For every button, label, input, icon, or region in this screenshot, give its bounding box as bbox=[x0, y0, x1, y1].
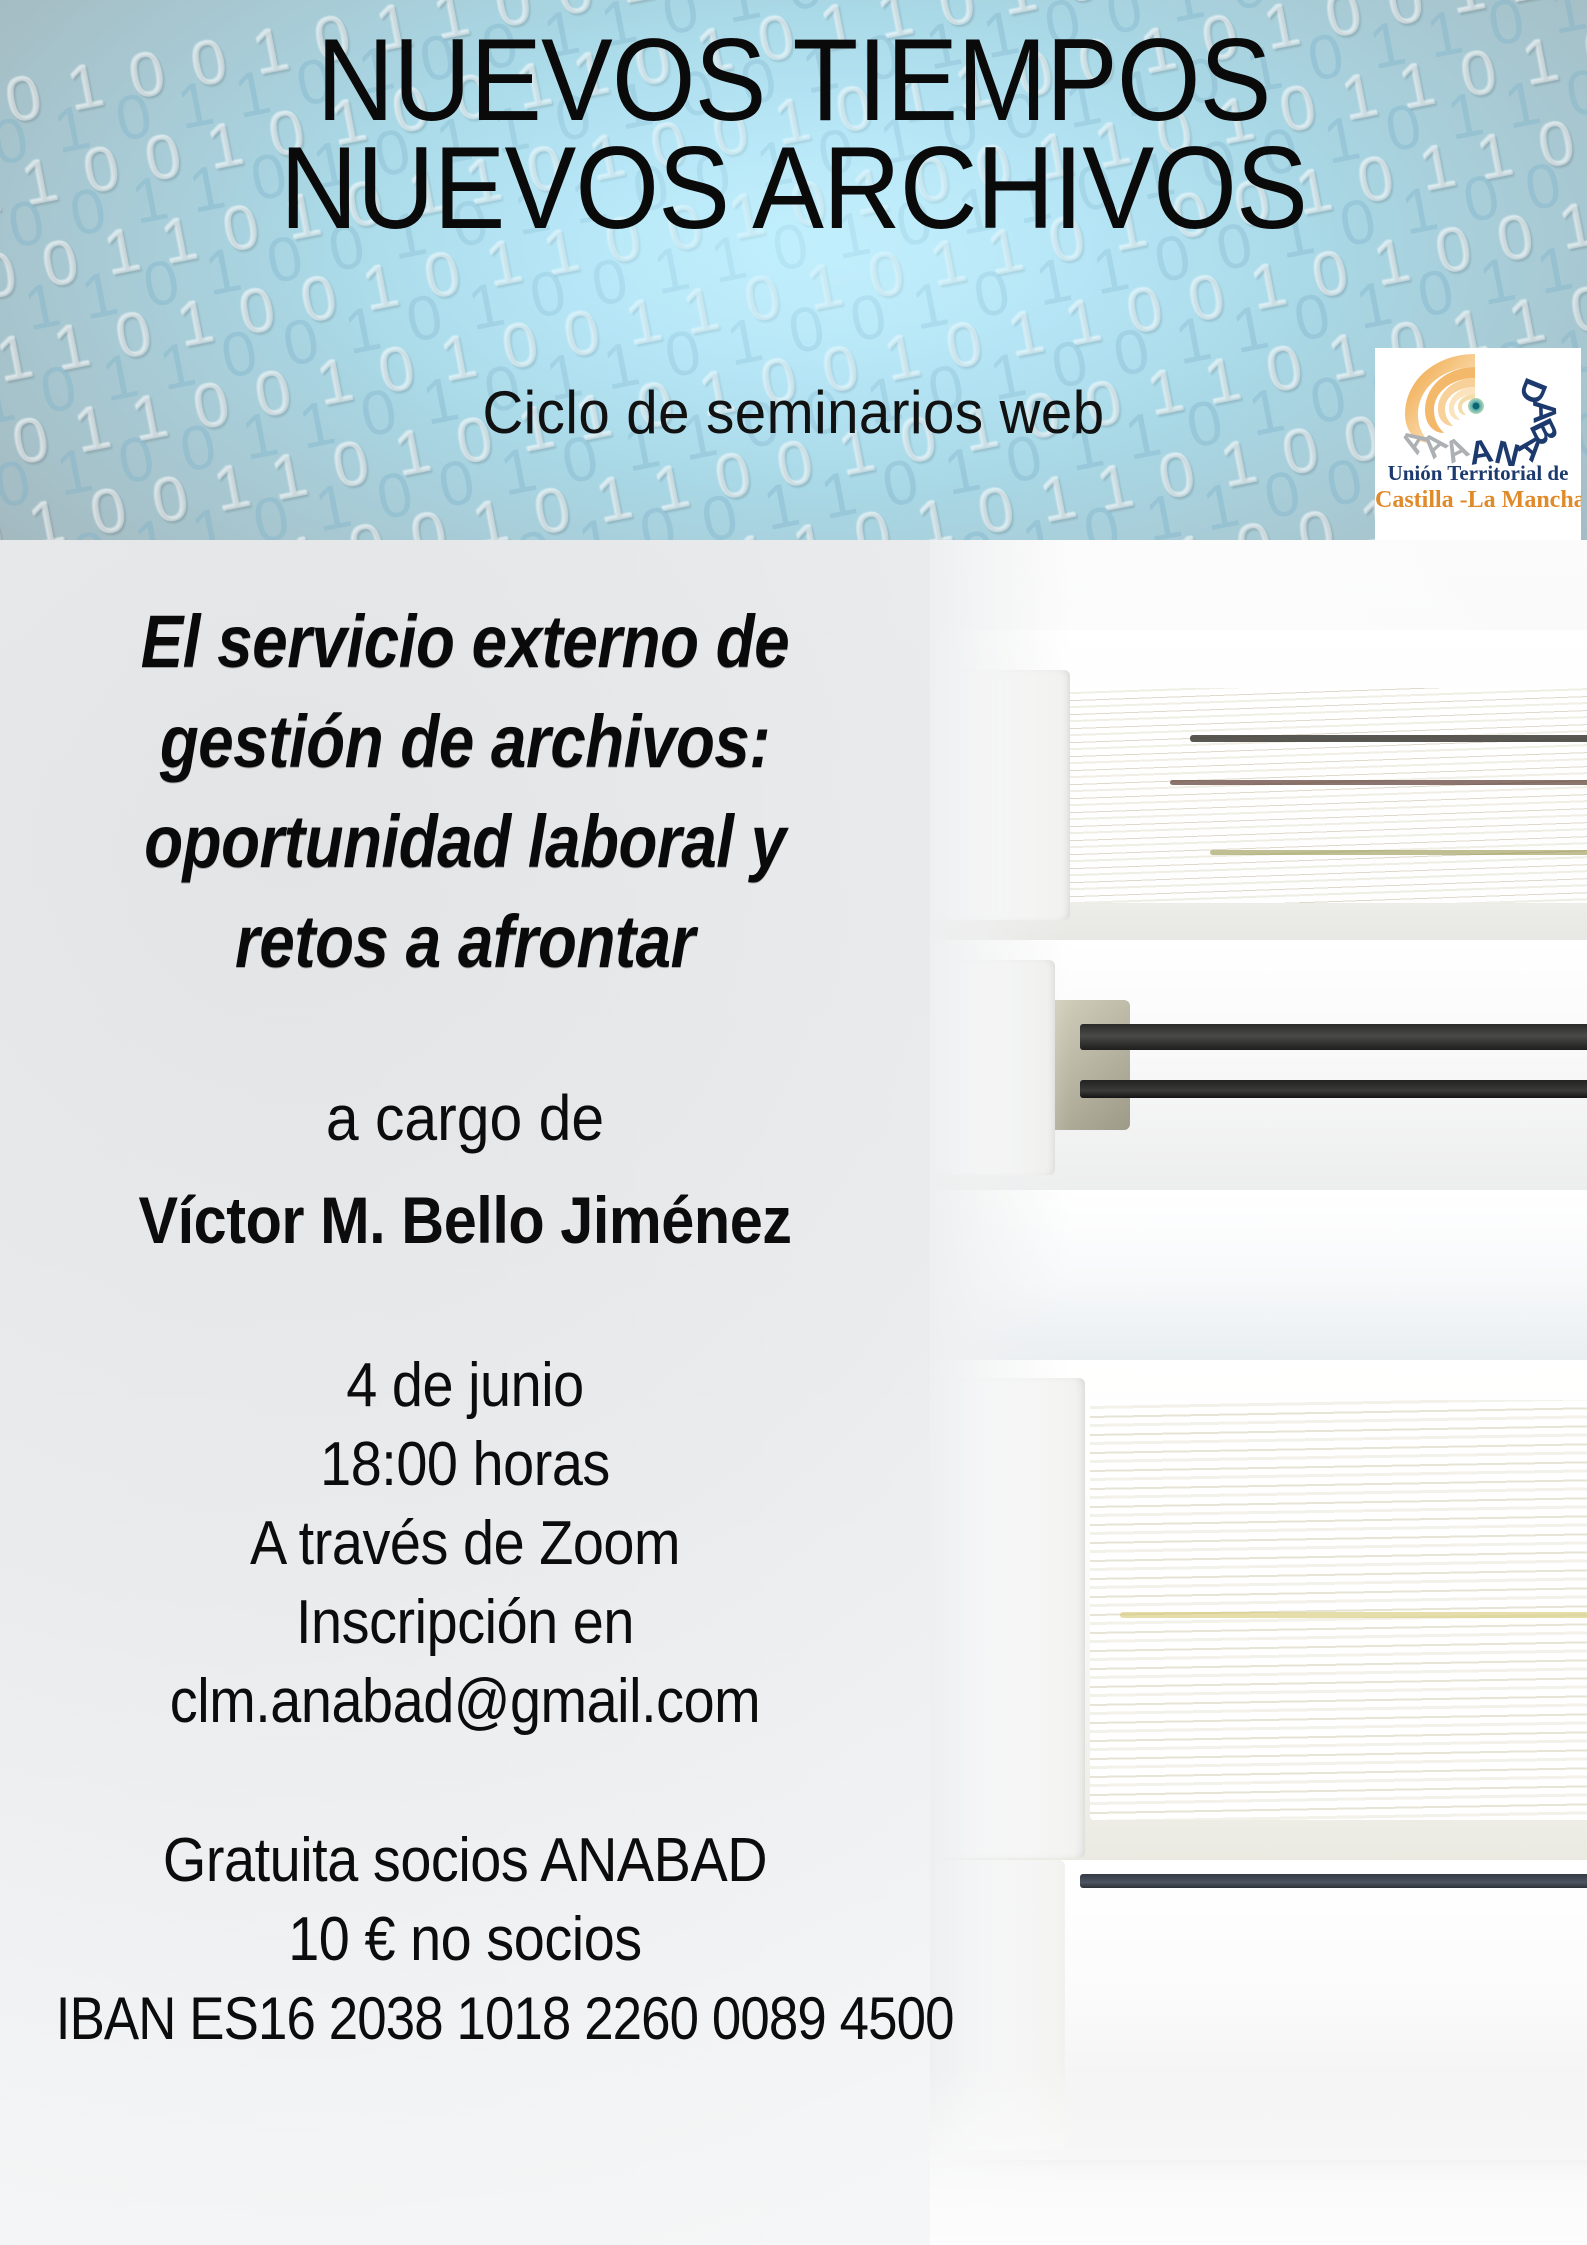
price-members: Gratuita socios ANABAD bbox=[47, 1821, 884, 1900]
event-date: 4 de junio bbox=[47, 1346, 884, 1425]
event-time: 18:00 horas bbox=[47, 1425, 884, 1504]
binder-dark-page-edge bbox=[1210, 850, 1587, 855]
logo-union-line: Unión Territorial de bbox=[1375, 460, 1581, 486]
binder-dark-page-edge bbox=[1170, 780, 1587, 785]
lecture-title: El servicio externo de gestión de archiv… bbox=[65, 592, 865, 992]
registration-email[interactable]: clm.anabad@gmail.com bbox=[47, 1662, 884, 1741]
lecture-title-line-3: oportunidad laboral y bbox=[65, 792, 865, 892]
event-platform: A través de Zoom bbox=[47, 1504, 884, 1583]
credit-prefix: a cargo de bbox=[37, 1078, 893, 1158]
anabad-logo-mark: A A A A N A B A D bbox=[1375, 348, 1581, 466]
svg-text:D: D bbox=[1512, 373, 1555, 409]
poster-main-content: El servicio externo de gestión de archiv… bbox=[0, 540, 930, 2058]
event-details: 4 de junio 18:00 horas A través de Zoom … bbox=[0, 1346, 930, 1741]
poster-title-block: NUEVOS TIEMPOS NUEVOS ARCHIVOS bbox=[0, 26, 1587, 242]
poster-root: 0110100101100101001101011010010110010100… bbox=[0, 0, 1587, 2245]
lecture-title-line-1: El servicio externo de bbox=[65, 592, 865, 692]
price-non-members: 10 € no socios bbox=[47, 1900, 884, 1979]
binder-pages bbox=[1045, 688, 1587, 903]
page-title-line-2: NUEVOS ARCHIVOS bbox=[63, 134, 1523, 242]
page-title-line-1: NUEVOS TIEMPOS bbox=[63, 26, 1523, 134]
photo-bottom-fade bbox=[930, 2065, 1587, 2245]
lecture-title-line-2: gestión de archivos: bbox=[65, 692, 865, 792]
binder-stack-photo bbox=[930, 540, 1587, 2245]
binder-dark-page-edge bbox=[1080, 1080, 1587, 1098]
logo-region-line: Castilla -La Mancha bbox=[1375, 486, 1581, 514]
registration-label: Inscripción en bbox=[47, 1583, 884, 1662]
lecture-title-line-4: retos a afrontar bbox=[65, 892, 865, 992]
anabad-logo-text: Unión Territorial de Castilla -La Mancha bbox=[1375, 460, 1581, 514]
speaker-name: Víctor M. Bello Jiménez bbox=[47, 1180, 884, 1260]
binder-yellow-page-edge bbox=[1120, 1612, 1587, 1618]
pricing-info: Gratuita socios ANABAD 10 € no socios IB… bbox=[0, 1821, 930, 2058]
iban-number: IBAN ES16 2038 1018 2260 0089 4500 bbox=[56, 1979, 874, 2058]
poster-header: 0110100101100101001101011010010110010100… bbox=[0, 0, 1587, 540]
binder-dark-page-edge bbox=[1080, 1874, 1587, 1888]
anabad-logo: A A A A N A B A D Unión Territorial de C… bbox=[1375, 348, 1581, 540]
nautilus-spiral-icon: A A A A N A B A D bbox=[1375, 348, 1581, 466]
speaker-credit: a cargo de Víctor M. Bello Jiménez bbox=[0, 1078, 930, 1260]
binder-dark-page-edge bbox=[1190, 735, 1587, 742]
binder-dark-page-edge bbox=[1080, 1024, 1587, 1050]
binder-pages bbox=[1090, 1400, 1587, 1820]
page-subtitle: Ciclo de seminarios web bbox=[48, 380, 1540, 446]
